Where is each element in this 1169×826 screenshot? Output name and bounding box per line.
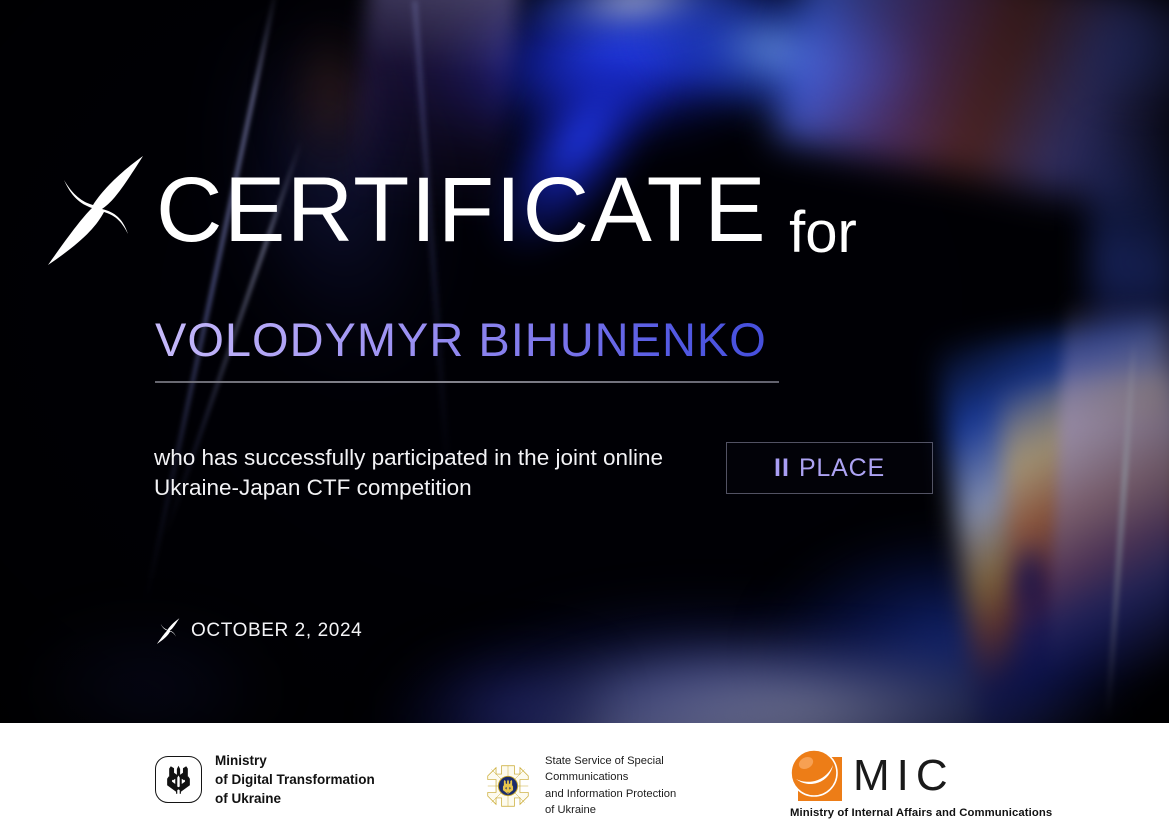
page-title: CERTIFICATE [156, 164, 767, 256]
certificate-description: who has successfully participated in the… [154, 443, 714, 502]
logo-label-mdt: Ministry of Digital Transformation of Uk… [215, 751, 375, 808]
trident-glyph [166, 765, 191, 795]
certificate-content: CERTIFICATE for VOLODYMYR BIHUNENKO who … [0, 0, 1169, 723]
mic-logo-row: MIC [790, 749, 955, 802]
logo-label-sscip: State Service of Special Communications … [545, 753, 676, 818]
recipient-name: VOLODYMYR BIHUNENKO [155, 316, 767, 363]
logo-state-service-special-communications: State Service of Special Communications … [485, 753, 676, 818]
certificate-date: OCTOBER 2, 2024 [191, 620, 362, 642]
place-rank: II [774, 454, 790, 483]
name-divider [155, 381, 779, 383]
place-label: PLACE [799, 454, 885, 483]
mic-sphere-square-icon [790, 749, 846, 802]
four-point-sparkle-icon [155, 616, 181, 646]
mic-wordmark: MIC [853, 754, 955, 798]
four-point-sparkle-icon [40, 150, 150, 270]
logo-label-mic: Ministry of Internal Affairs and Communi… [790, 807, 1052, 819]
logo-mic: MIC Ministry of Internal Affairs and Com… [790, 749, 1052, 819]
page-title-suffix: for [789, 204, 857, 262]
place-badge[interactable]: II PLACE [726, 442, 933, 494]
ukraine-trident-icon [155, 756, 202, 803]
certificate-date-row: OCTOBER 2, 2024 [155, 616, 362, 646]
footer-logos: Ministry of Digital Transformation of Uk… [0, 723, 1169, 826]
logo-ministry-of-digital-transformation: Ministry of Digital Transformation of Uk… [155, 751, 375, 808]
sscip-cross-emblem-icon [485, 763, 531, 809]
certificate-page: CERTIFICATE for VOLODYMYR BIHUNENKO who … [0, 0, 1169, 826]
certificate-title-row: CERTIFICATE for [40, 150, 857, 270]
